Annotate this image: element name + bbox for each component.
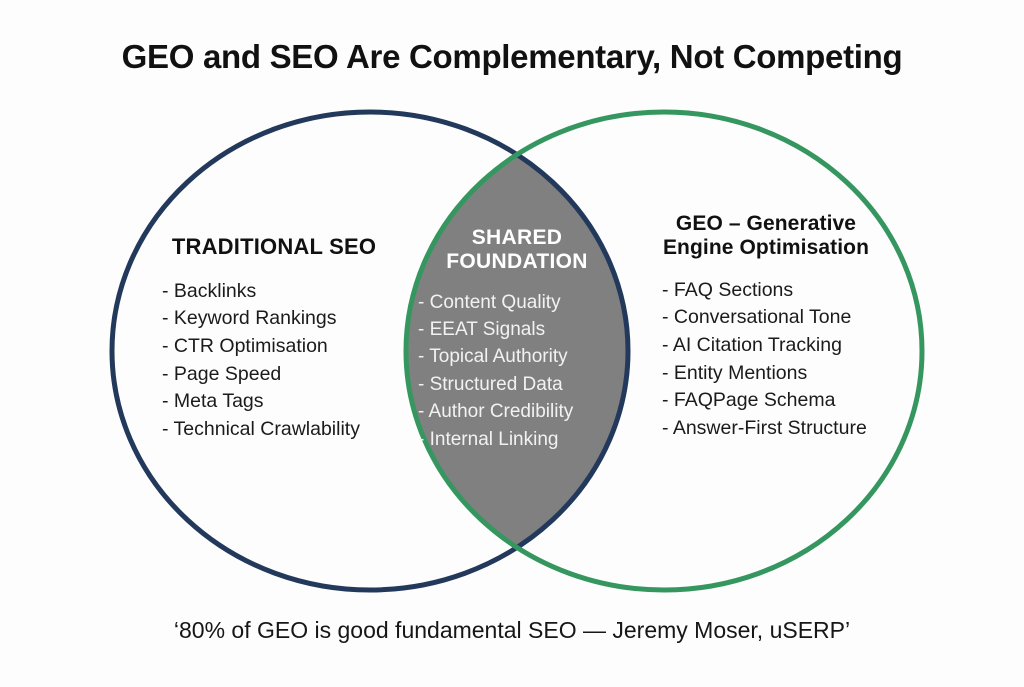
list-item: - FAQPage Schema [662,387,902,415]
traditional-seo-list: - Backlinks - Keyword Rankings - CTR Opt… [140,278,408,444]
list-item: - Content Quality [418,289,642,316]
list-item: - AI Citation Tracking [662,332,902,360]
list-item: - FAQ Sections [662,277,902,305]
list-item: - Technical Crawlability [162,416,408,444]
list-item: - Topical Authority [418,343,642,370]
list-item: - Page Speed [162,361,408,389]
geo-panel: GEO – Generative Engine Optimisation - F… [630,212,902,443]
shared-foundation-heading-line2: FOUNDATION [392,250,642,274]
list-item: - Answer-First Structure [662,415,902,443]
traditional-seo-panel: TRADITIONAL SEO - Backlinks - Keyword Ra… [140,234,408,444]
list-item: - Structured Data [418,371,642,398]
list-item: - Meta Tags [162,388,408,416]
list-item: - Keyword Rankings [162,305,408,333]
shared-foundation-list: - Content Quality - EEAT Signals - Topic… [392,289,642,453]
traditional-seo-heading: TRADITIONAL SEO [140,234,408,260]
geo-heading: GEO – Generative Engine Optimisation [630,212,902,261]
infographic-canvas: GEO and SEO Are Complementary, Not Compe… [0,0,1024,687]
list-item: - CTR Optimisation [162,333,408,361]
list-item: - Conversational Tone [662,304,902,332]
list-item: - Backlinks [162,278,408,306]
geo-heading-line2: Engine Optimisation [630,236,902,260]
geo-heading-line1: GEO – Generative [630,212,902,236]
shared-foundation-panel: SHARED FOUNDATION - Content Quality - EE… [392,226,642,453]
list-item: - Internal Linking [418,426,642,453]
list-item: - EEAT Signals [418,316,642,343]
footer-quote: ‘80% of GEO is good fundamental SEO — Je… [0,617,1024,644]
geo-list: - FAQ Sections - Conversational Tone - A… [630,277,902,443]
shared-foundation-heading: SHARED FOUNDATION [392,226,642,275]
list-item: - Author Credibility [418,398,642,425]
list-item: - Entity Mentions [662,360,902,388]
shared-foundation-heading-line1: SHARED [392,226,642,250]
